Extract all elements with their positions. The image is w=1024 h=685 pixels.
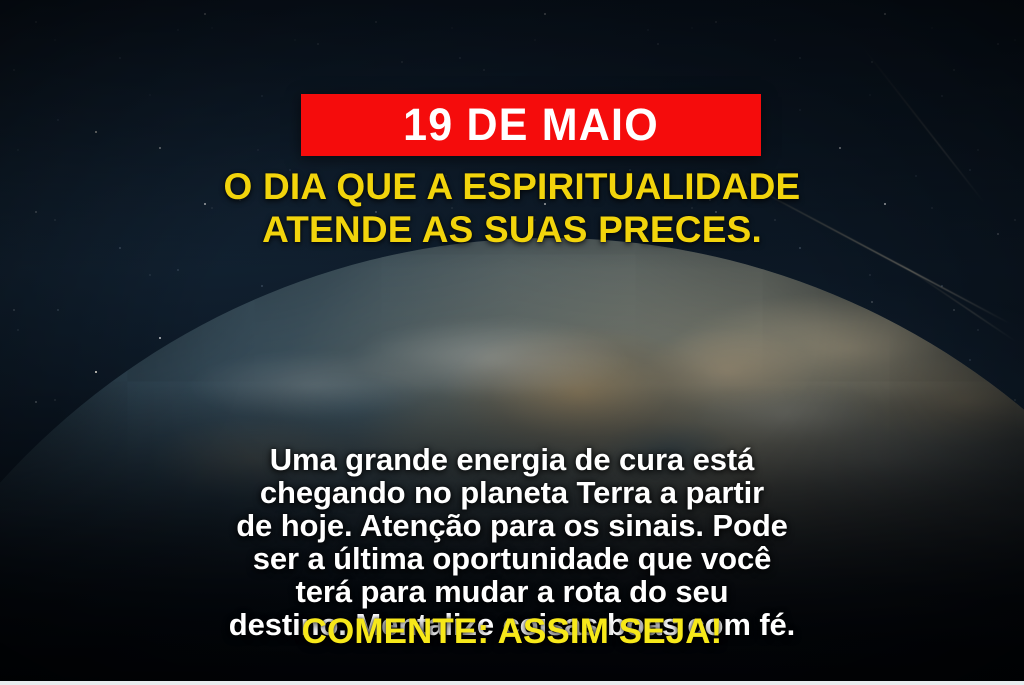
date-banner-text: 19 DE MAIO bbox=[403, 102, 659, 148]
headline: O DIA QUE A ESPIRITUALIDADE ATENDE AS SU… bbox=[0, 166, 1024, 252]
body-line-4: ser a última oportunidade que você bbox=[48, 542, 976, 575]
poster-canvas: 19 DE MAIO O DIA QUE A ESPIRITUALIDADE A… bbox=[0, 0, 1024, 685]
headline-line-1: O DIA QUE A ESPIRITUALIDADE bbox=[46, 166, 978, 209]
body-line-3: de hoje. Atenção para os sinais. Pode bbox=[48, 509, 976, 542]
call-to-action-text: COMENTE: ASSIM SEJA! bbox=[0, 613, 1024, 652]
body-line-5: terá para mudar a rota do seu bbox=[48, 575, 976, 608]
date-banner: 19 DE MAIO bbox=[301, 94, 761, 156]
body-line-1: Uma grande energia de cura está bbox=[48, 443, 976, 476]
headline-line-2: ATENDE AS SUAS PRECES. bbox=[46, 209, 978, 252]
text-content-layer: 19 DE MAIO O DIA QUE A ESPIRITUALIDADE A… bbox=[0, 0, 1024, 685]
body-line-2: chegando no planeta Terra a partir bbox=[48, 476, 976, 509]
bottom-edge-strip bbox=[0, 681, 1024, 685]
